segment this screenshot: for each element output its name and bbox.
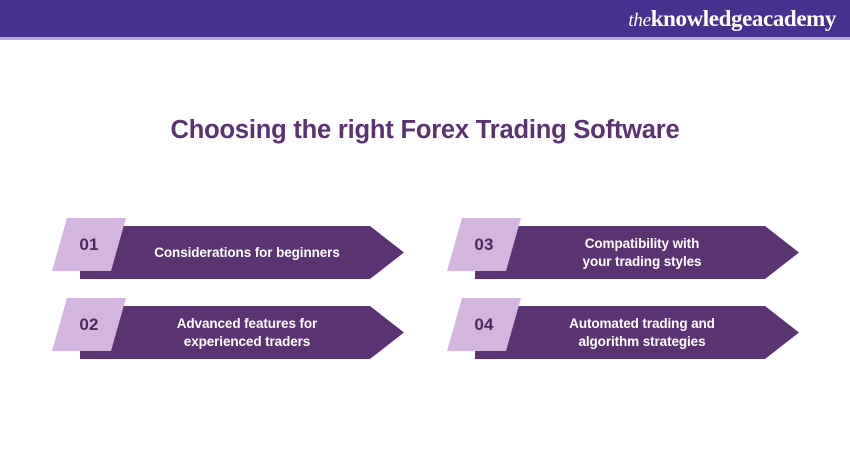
logo-word-knowledge: knowledge bbox=[651, 7, 752, 30]
number-badge-text: 02 bbox=[52, 298, 126, 351]
number-badge-text: 03 bbox=[447, 218, 521, 271]
item-label: Compatibility with your trading styles bbox=[549, 235, 726, 271]
page-title: Choosing the right Forex Trading Softwar… bbox=[0, 116, 850, 145]
list-item[interactable]: Compatibility with your trading styles 0… bbox=[447, 218, 799, 271]
item-label-line2: experienced traders bbox=[184, 334, 310, 349]
logo-word-the: the bbox=[628, 11, 650, 30]
item-label-line1: Considerations for beginners bbox=[154, 245, 339, 260]
header-divider bbox=[0, 37, 850, 40]
arrow-banner: Compatibility with your trading styles bbox=[475, 226, 799, 279]
number-badge-text: 04 bbox=[447, 298, 521, 351]
arrow-banner: Considerations for beginners bbox=[80, 226, 404, 279]
item-label: Automated trading and algorithm strategi… bbox=[535, 315, 739, 351]
page-header: theknowledgeacademy bbox=[0, 0, 850, 37]
arrow-banner: Automated trading and algorithm strategi… bbox=[475, 306, 799, 359]
item-label-line2: algorithm strategies bbox=[578, 334, 705, 349]
item-label-line2: your trading styles bbox=[583, 254, 702, 269]
items-grid: Considerations for beginners 01 Advanced… bbox=[0, 205, 850, 365]
number-badge-text: 01 bbox=[52, 218, 126, 271]
logo-word-academy: academy bbox=[752, 7, 836, 30]
item-label: Considerations for beginners bbox=[120, 244, 363, 262]
item-label: Advanced features for experienced trader… bbox=[143, 315, 341, 351]
list-item[interactable]: Automated trading and algorithm strategi… bbox=[447, 298, 799, 351]
brand-logo: theknowledgeacademy bbox=[628, 7, 836, 30]
list-item[interactable]: Considerations for beginners 01 bbox=[52, 218, 404, 271]
list-item[interactable]: Advanced features for experienced trader… bbox=[52, 298, 404, 351]
item-label-line1: Automated trading and bbox=[569, 316, 715, 331]
item-label-line1: Advanced features for bbox=[177, 316, 317, 331]
arrow-banner: Advanced features for experienced trader… bbox=[80, 306, 404, 359]
item-label-line1: Compatibility with bbox=[585, 236, 699, 251]
